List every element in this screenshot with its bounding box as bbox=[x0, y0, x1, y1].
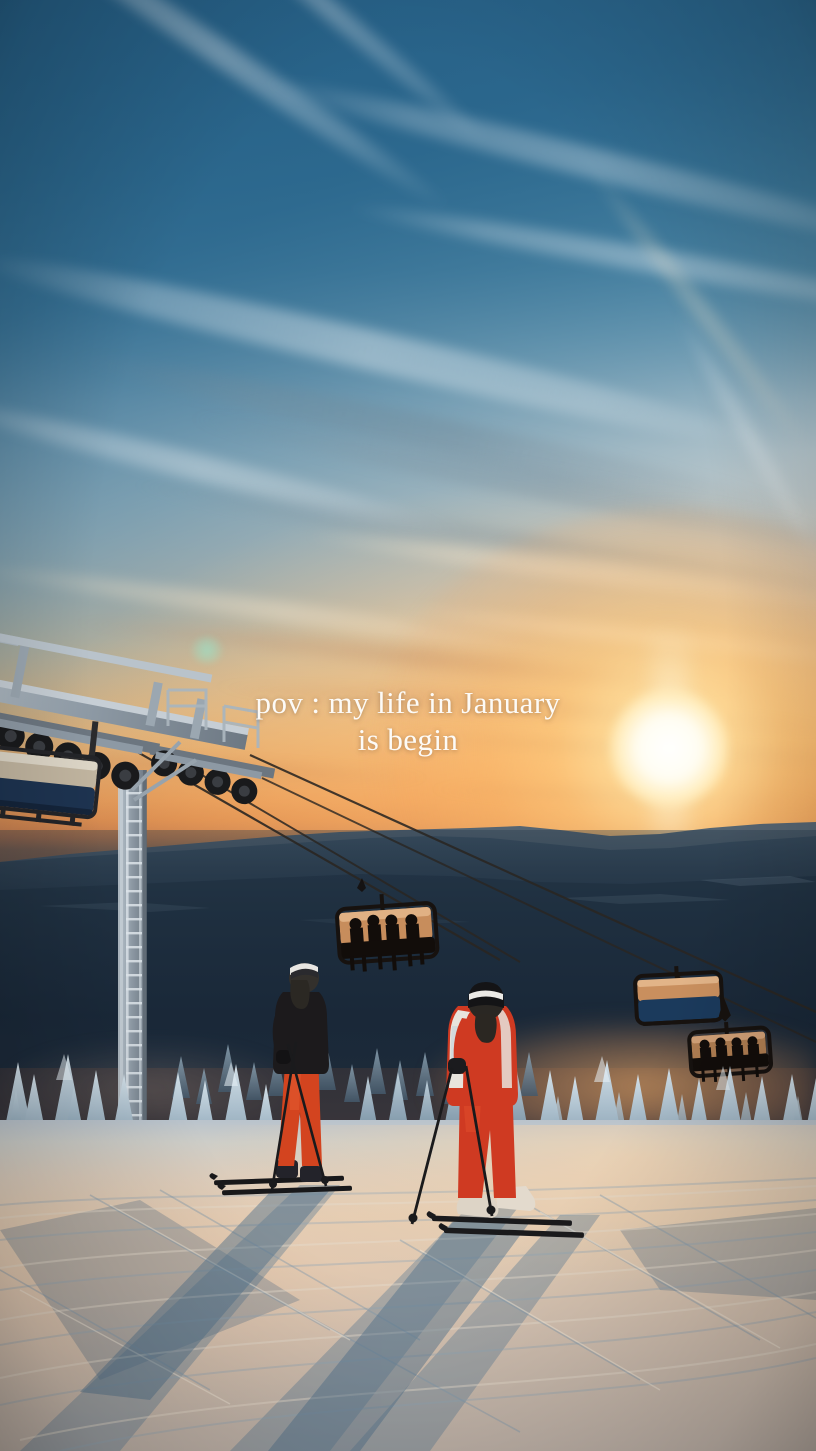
caption-text: pov : my life in January is begin bbox=[0, 684, 816, 758]
lens-flare-icon bbox=[190, 636, 224, 664]
snow-warm-light bbox=[0, 1125, 816, 1451]
photo-scene: pov : my life in January is begin bbox=[0, 0, 816, 1451]
valley-warm-glow bbox=[430, 1020, 816, 1130]
valley-warm-glow-left bbox=[0, 1040, 300, 1120]
